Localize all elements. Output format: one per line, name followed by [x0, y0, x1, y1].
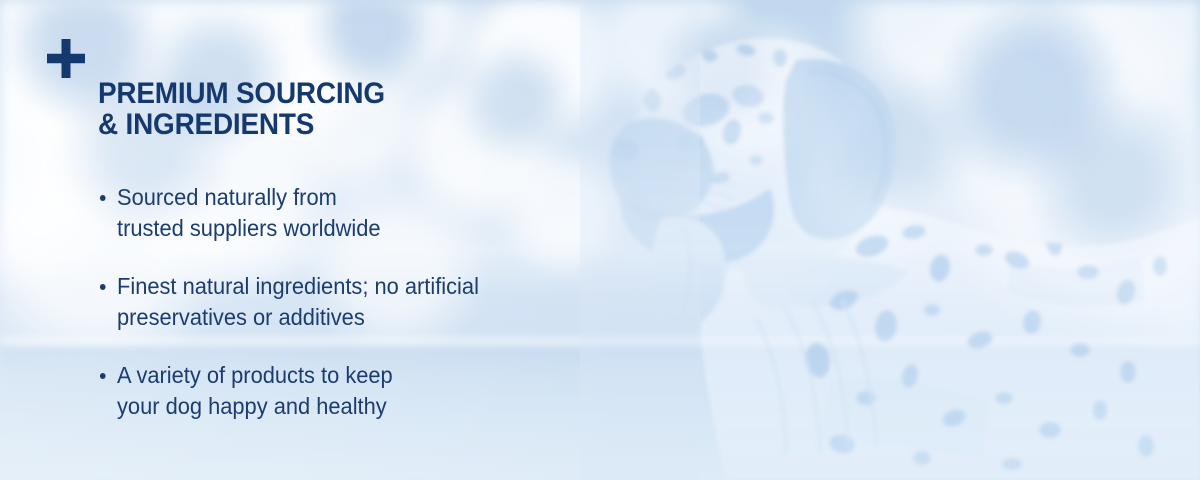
page-title: PREMIUM SOURCING & INGREDIENTS	[98, 78, 526, 140]
bullet-dot-icon	[100, 373, 106, 379]
plus-icon	[47, 39, 85, 78]
list-item: Sourced naturally from trusted suppliers…	[98, 182, 583, 244]
bullet-1-line-1: Sourced naturally from	[117, 182, 583, 213]
bullet-dot-icon	[100, 195, 106, 201]
feature-bullet-list: Sourced naturally from trusted suppliers…	[98, 182, 608, 422]
headline-line-1: PREMIUM SOURCING	[98, 78, 526, 109]
headline-line-2: & INGREDIENTS	[98, 109, 526, 140]
list-item: A variety of products to keep your dog h…	[98, 360, 583, 422]
bullet-2-line-2: preservatives or additives	[117, 302, 583, 333]
dalmatian-dog-image	[580, 0, 1200, 480]
bullet-3-line-2: your dog happy and healthy	[117, 391, 583, 422]
bullet-1-line-2: trusted suppliers worldwide	[117, 213, 583, 244]
bullet-3-line-1: A variety of products to keep	[117, 360, 583, 391]
bullet-2-line-1: Finest natural ingredients; no artificia…	[117, 271, 583, 302]
list-item: Finest natural ingredients; no artificia…	[98, 271, 583, 333]
bullet-dot-icon	[100, 284, 106, 290]
premium-sourcing-banner: PREMIUM SOURCING & INGREDIENTS Sourced n…	[0, 0, 1200, 480]
copy-block: PREMIUM SOURCING & INGREDIENTS Sourced n…	[0, 0, 620, 480]
